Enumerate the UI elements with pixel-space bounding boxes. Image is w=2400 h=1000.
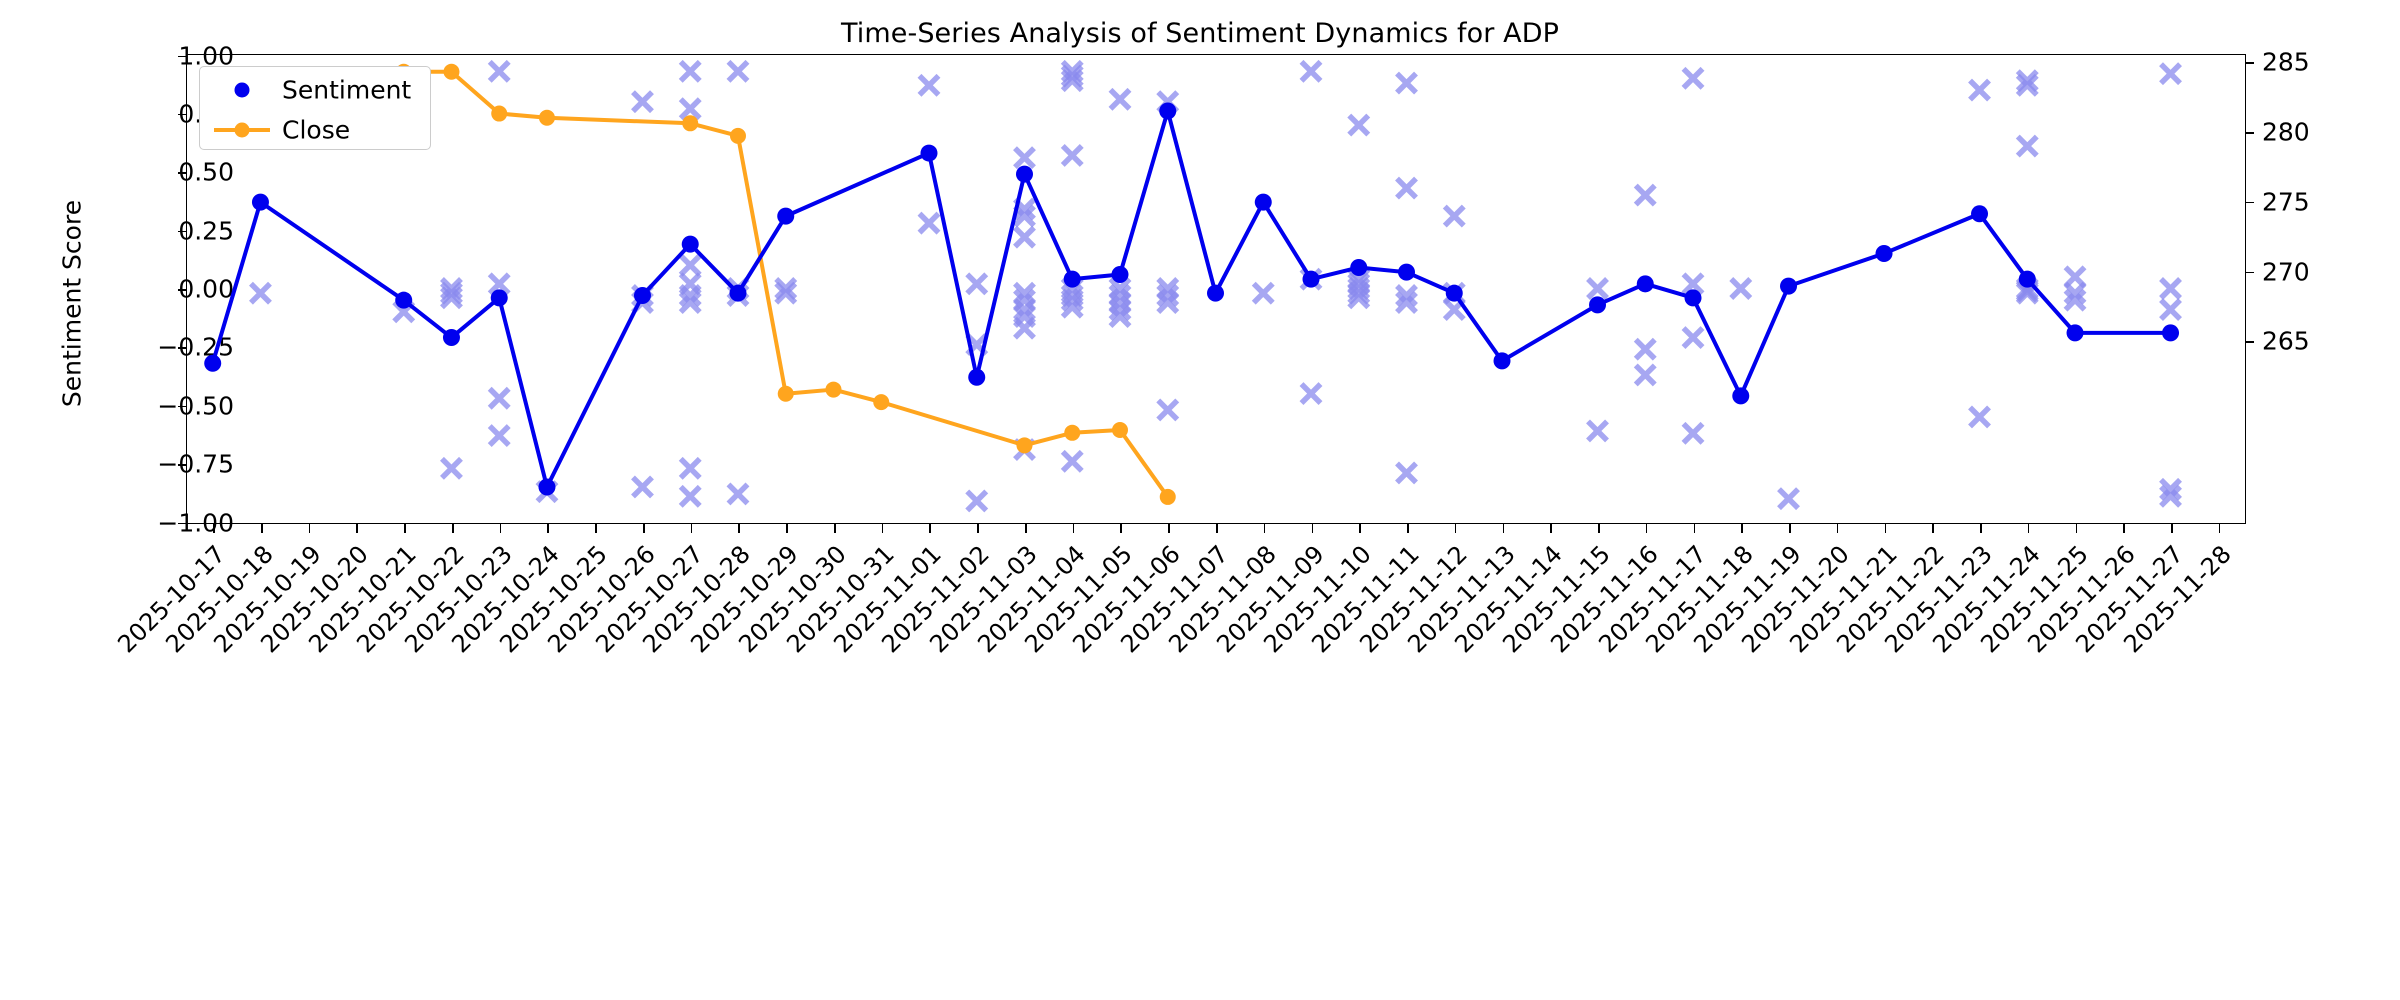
x-tick-mark	[1264, 524, 1266, 533]
scatter-x-marker	[681, 487, 700, 506]
x-tick-mark	[1503, 524, 1505, 533]
close-point	[825, 382, 841, 398]
sentiment-point	[729, 285, 746, 302]
sentiment-point	[634, 287, 651, 304]
sentiment-point	[1303, 271, 1320, 288]
scatter-x-marker	[1684, 328, 1703, 347]
x-tick-mark	[2123, 524, 2125, 533]
chart-title: Time-Series Analysis of Sentiment Dynami…	[0, 18, 2400, 49]
x-tick-mark	[2219, 524, 2221, 533]
scatter-x-marker	[681, 256, 700, 275]
close-point	[1064, 425, 1080, 441]
sentiment-point	[252, 194, 269, 211]
x-tick-mark	[500, 524, 502, 533]
x-tick-mark	[452, 524, 454, 533]
sentiment-point	[1589, 296, 1606, 313]
sentiment-marker-icon	[235, 83, 250, 98]
x-tick-mark	[1216, 524, 1218, 533]
scatter-x-marker	[681, 459, 700, 478]
x-tick-mark	[1359, 524, 1361, 533]
scatter-x-marker	[919, 76, 938, 95]
x-tick-mark	[1407, 524, 1409, 533]
scatter-x-marker	[1684, 69, 1703, 88]
scatter-x-marker	[1588, 279, 1607, 298]
sentiment-point	[1780, 278, 1797, 295]
scatter-x-marker	[490, 426, 509, 445]
scatter-x-marker	[251, 284, 270, 303]
x-tick-mark	[2076, 524, 2078, 533]
legend-label-close: Close	[282, 116, 350, 145]
x-tick-mark	[691, 524, 693, 533]
sentiment-point	[1159, 103, 1176, 120]
x-tick-mark	[595, 524, 597, 533]
x-tick-mark	[1312, 524, 1314, 533]
x-tick-mark	[1694, 524, 1696, 533]
x-tick-mark	[1837, 524, 1839, 533]
close-point	[443, 64, 459, 80]
sentiment-point	[1494, 352, 1511, 369]
scatter-x-marker	[1254, 284, 1273, 303]
scatter-x-marker	[1779, 489, 1798, 508]
x-tick-mark	[1885, 524, 1887, 533]
y-tick-mark-right	[2246, 272, 2254, 274]
scatter-x-marker	[2161, 300, 2180, 319]
scatter-x-marker	[1063, 146, 1082, 165]
sentiment-point	[1876, 245, 1893, 262]
y-tick-label-right: 280	[2262, 118, 2382, 147]
sentiment-point	[1637, 275, 1654, 292]
x-tick-mark	[1932, 524, 1934, 533]
y-tick-mark-left	[178, 347, 186, 349]
scatter-x-marker	[1110, 90, 1129, 109]
x-tick-mark	[356, 524, 358, 533]
x-tick-mark	[547, 524, 549, 533]
x-tick-mark	[404, 524, 406, 533]
scatter-x-marker	[1063, 452, 1082, 471]
x-tick-mark	[213, 524, 215, 533]
y-tick-mark-right	[2246, 62, 2254, 64]
scatter-x-marker	[1015, 228, 1034, 247]
sentiment-point	[1111, 266, 1128, 283]
x-tick-mark	[1741, 524, 1743, 533]
x-tick-mark	[1598, 524, 1600, 533]
scatter-x-marker	[1397, 179, 1416, 198]
x-tick-mark	[1073, 524, 1075, 533]
scatter-x-marker	[967, 274, 986, 293]
scatter-x-marker	[490, 62, 509, 81]
x-tick-mark	[1789, 524, 1791, 533]
legend-entry-close: Close	[200, 109, 432, 151]
close-point	[682, 115, 698, 131]
scatter-x-marker	[633, 477, 652, 496]
scatter-x-marker	[2018, 137, 2037, 156]
x-tick-mark	[1168, 524, 1170, 533]
x-tick-mark	[643, 524, 645, 533]
scatter-x-marker	[967, 491, 986, 510]
x-tick-mark	[882, 524, 884, 533]
scatter-x-marker	[2161, 279, 2180, 298]
scatter-x-marker	[1445, 207, 1464, 226]
scatter-x-marker	[490, 389, 509, 408]
sentiment-point	[682, 236, 699, 253]
y-tick-mark-left	[178, 114, 186, 116]
sentiment-point	[1732, 387, 1749, 404]
sentiment-point	[1255, 194, 1272, 211]
close-point	[1016, 437, 1032, 453]
x-tick-mark	[1455, 524, 1457, 533]
close-point	[778, 386, 794, 402]
sentiment-point	[2019, 271, 2036, 288]
y-tick-mark-left	[178, 289, 186, 291]
sentiment-point	[968, 369, 985, 386]
plot-svg	[187, 55, 2244, 522]
close-point	[539, 110, 555, 126]
legend: Sentiment Close	[199, 66, 431, 150]
x-tick-mark	[309, 524, 311, 533]
close-point	[1160, 489, 1176, 505]
sentiment-point	[1207, 285, 1224, 302]
scatter-x-marker	[1397, 74, 1416, 93]
x-tick-mark	[738, 524, 740, 533]
y-tick-mark-left	[178, 172, 186, 174]
x-tick-mark	[2171, 524, 2173, 533]
plot-area	[186, 54, 2246, 524]
y-tick-mark-left	[178, 406, 186, 408]
scatter-x-marker	[1015, 148, 1034, 167]
x-tick-mark	[929, 524, 931, 533]
close-point	[491, 106, 507, 122]
sentiment-point	[395, 292, 412, 309]
x-tick-mark	[1646, 524, 1648, 533]
scatter-x-marker	[728, 484, 747, 503]
y-tick-label-right: 275	[2262, 187, 2382, 216]
sentiment-point	[1016, 166, 1033, 183]
sentiment-point	[1398, 264, 1415, 281]
sentiment-point	[1685, 289, 1702, 306]
y-tick-mark-left	[178, 523, 186, 525]
x-tick-mark	[261, 524, 263, 533]
sentiment-point	[1446, 285, 1463, 302]
scatter-x-marker	[919, 214, 938, 233]
sentiment-point	[2067, 324, 2084, 341]
sentiment-point	[1350, 259, 1367, 276]
scatter-x-marker	[1636, 340, 1655, 359]
scatter-x-marker	[1397, 463, 1416, 482]
x-tick-mark	[1120, 524, 1122, 533]
scatter-x-marker	[1684, 424, 1703, 443]
y-tick-mark-right	[2246, 202, 2254, 204]
x-tick-mark	[834, 524, 836, 533]
sentiment-point	[443, 329, 460, 346]
scatter-x-marker	[1731, 279, 1750, 298]
figure: Time-Series Analysis of Sentiment Dynami…	[0, 0, 2400, 1000]
sentiment-point	[1971, 205, 1988, 222]
legend-label-sentiment: Sentiment	[282, 76, 411, 105]
sentiment-point	[491, 289, 508, 306]
scatter-x-marker	[1636, 365, 1655, 384]
scatter-x-marker	[728, 62, 747, 81]
scatter-x-marker	[681, 62, 700, 81]
y-tick-label-right: 285	[2262, 48, 2382, 77]
close-point	[1112, 422, 1128, 438]
legend-entry-sentiment: Sentiment	[200, 69, 432, 111]
scatter-x-marker	[1636, 186, 1655, 205]
x-tick-mark	[1980, 524, 1982, 533]
sentiment-point	[777, 208, 794, 225]
x-tick-mark	[1025, 524, 1027, 533]
close-point	[873, 394, 889, 410]
scatter-x-marker	[1302, 384, 1321, 403]
x-tick-mark	[1550, 524, 1552, 533]
y-tick-mark-left	[178, 56, 186, 58]
scatter-x-marker	[1588, 421, 1607, 440]
y-tick-mark-left	[178, 464, 186, 466]
y-tick-label-right: 265	[2262, 327, 2382, 356]
scatter-x-marker	[1015, 319, 1034, 338]
x-tick-mark	[2028, 524, 2030, 533]
sentiment-point	[920, 145, 937, 162]
scatter-x-marker	[442, 459, 461, 478]
y-tick-mark-left	[178, 231, 186, 233]
sentiment-point	[2162, 324, 2179, 341]
scatter-x-marker	[2161, 64, 2180, 83]
scatter-x-marker	[1970, 407, 1989, 426]
y-tick-label-right: 270	[2262, 257, 2382, 286]
close-point	[730, 128, 746, 144]
scatter-x-marker	[1349, 116, 1368, 135]
scatter-x-marker	[1158, 400, 1177, 419]
sentiment-point	[538, 478, 555, 495]
scatter-x-marker	[1970, 81, 1989, 100]
x-tick-mark	[977, 524, 979, 533]
y-tick-mark-right	[2246, 341, 2254, 343]
scatter-x-marker	[1302, 62, 1321, 81]
close-marker-icon	[235, 123, 250, 138]
sentiment-point	[1064, 271, 1081, 288]
y-tick-mark-right	[2246, 132, 2254, 134]
scatter-x-marker	[633, 92, 652, 111]
sentiment-point	[204, 355, 221, 372]
x-tick-mark	[786, 524, 788, 533]
